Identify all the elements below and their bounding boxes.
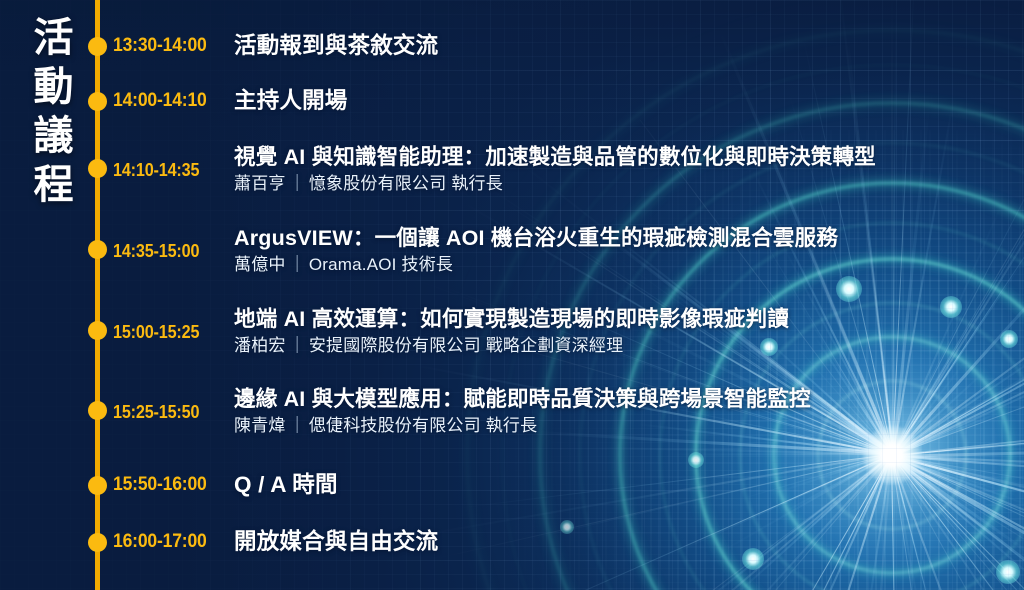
agenda-speaker-line: 潘柏宏｜安提國際股份有限公司 戰略企劃資深經理 bbox=[234, 333, 789, 358]
agenda-time: 14:00-14:10 bbox=[113, 89, 207, 112]
agenda-speaker-line: 陳青煒｜偲倢科技股份有限公司 執行長 bbox=[234, 413, 811, 438]
agenda-text-block: 邊緣 AI 與大模型應用：賦能即時品質決策與跨場景智能監控陳青煒｜偲倢科技股份有… bbox=[234, 386, 811, 438]
agenda-session-title: 地端 AI 高效運算：如何實現製造現場的即時影像瑕疵判讀 bbox=[234, 306, 789, 333]
agenda-text-block: ArgusVIEW：一個讓 AOI 機台浴火重生的瑕疵檢測混合雲服務萬億中｜Or… bbox=[234, 225, 838, 277]
agenda-session-title: 開放媒合與自由交流 bbox=[234, 528, 438, 555]
agenda-session-title: 主持人開場 bbox=[234, 87, 348, 114]
agenda-text-block: 視覺 AI 與知識智能助理：加速製造與品管的數位化與即時決策轉型蕭百亨｜憶象股份… bbox=[234, 144, 876, 196]
timeline-dot bbox=[88, 159, 107, 178]
agenda-speaker-affiliation: 偲倢科技股份有限公司 執行長 bbox=[309, 416, 538, 435]
agenda-speaker-affiliation: 憶象股份有限公司 執行長 bbox=[309, 174, 503, 193]
agenda-speaker-separator: ｜ bbox=[286, 336, 309, 355]
agenda-speaker-line: 蕭百亨｜憶象股份有限公司 執行長 bbox=[234, 171, 876, 196]
agenda-text-block: 地端 AI 高效運算：如何實現製造現場的即時影像瑕疵判讀潘柏宏｜安提國際股份有限… bbox=[234, 306, 789, 358]
timeline-dot bbox=[88, 37, 107, 56]
timeline-dot bbox=[88, 533, 107, 552]
agenda-speaker-name: 蕭百亨 bbox=[234, 174, 286, 193]
timeline-dot bbox=[88, 476, 107, 495]
agenda-time: 13:30-14:00 bbox=[113, 34, 207, 57]
agenda-speaker-affiliation: 安提國際股份有限公司 戰略企劃資深經理 bbox=[309, 336, 624, 355]
agenda-session-title: 邊緣 AI 與大模型應用：賦能即時品質決策與跨場景智能監控 bbox=[234, 386, 811, 413]
agenda-speaker-separator: ｜ bbox=[286, 416, 309, 435]
agenda-session-title: 視覺 AI 與知識智能助理：加速製造與品管的數位化與即時決策轉型 bbox=[234, 144, 876, 171]
agenda-text-block: 開放媒合與自由交流 bbox=[234, 528, 438, 555]
agenda-speaker-name: 潘柏宏 bbox=[234, 336, 286, 355]
agenda-speaker-name: 陳青煒 bbox=[234, 416, 286, 435]
agenda-text-block: Q / A 時間 bbox=[234, 471, 338, 498]
timeline-dot bbox=[88, 240, 107, 259]
agenda-time: 14:10-14:35 bbox=[113, 160, 199, 181]
timeline-dot bbox=[88, 92, 107, 111]
agenda-text-block: 主持人開場 bbox=[234, 87, 348, 114]
agenda-session-title: ArgusVIEW：一個讓 AOI 機台浴火重生的瑕疵檢測混合雲服務 bbox=[234, 225, 838, 252]
agenda-session-title: 活動報到與茶敘交流 bbox=[234, 32, 438, 59]
agenda-time: 14:35-15:00 bbox=[113, 241, 199, 262]
agenda-time: 15:00-15:25 bbox=[113, 322, 199, 343]
agenda-speaker-separator: ｜ bbox=[286, 174, 309, 193]
agenda-speaker-separator: ｜ bbox=[286, 255, 309, 274]
timeline-dot bbox=[88, 321, 107, 340]
agenda-session-title: Q / A 時間 bbox=[234, 471, 338, 498]
timeline-dot bbox=[88, 401, 107, 420]
agenda-speaker-affiliation: Orama.AOI 技術長 bbox=[309, 255, 453, 274]
agenda-speaker-line: 萬億中｜Orama.AOI 技術長 bbox=[234, 252, 838, 277]
agenda-time: 15:25-15:50 bbox=[113, 402, 199, 423]
agenda-time: 16:00-17:00 bbox=[113, 530, 207, 553]
agenda-time: 15:50-16:00 bbox=[113, 473, 207, 496]
agenda-slide: 活 動 議 程 13:30-14:00活動報到與茶敘交流14:00-14:10主… bbox=[0, 0, 1024, 590]
agenda-text-block: 活動報到與茶敘交流 bbox=[234, 32, 438, 59]
agenda-speaker-name: 萬億中 bbox=[234, 255, 286, 274]
agenda-list: 13:30-14:00活動報到與茶敘交流14:00-14:10主持人開場14:1… bbox=[0, 0, 1024, 590]
